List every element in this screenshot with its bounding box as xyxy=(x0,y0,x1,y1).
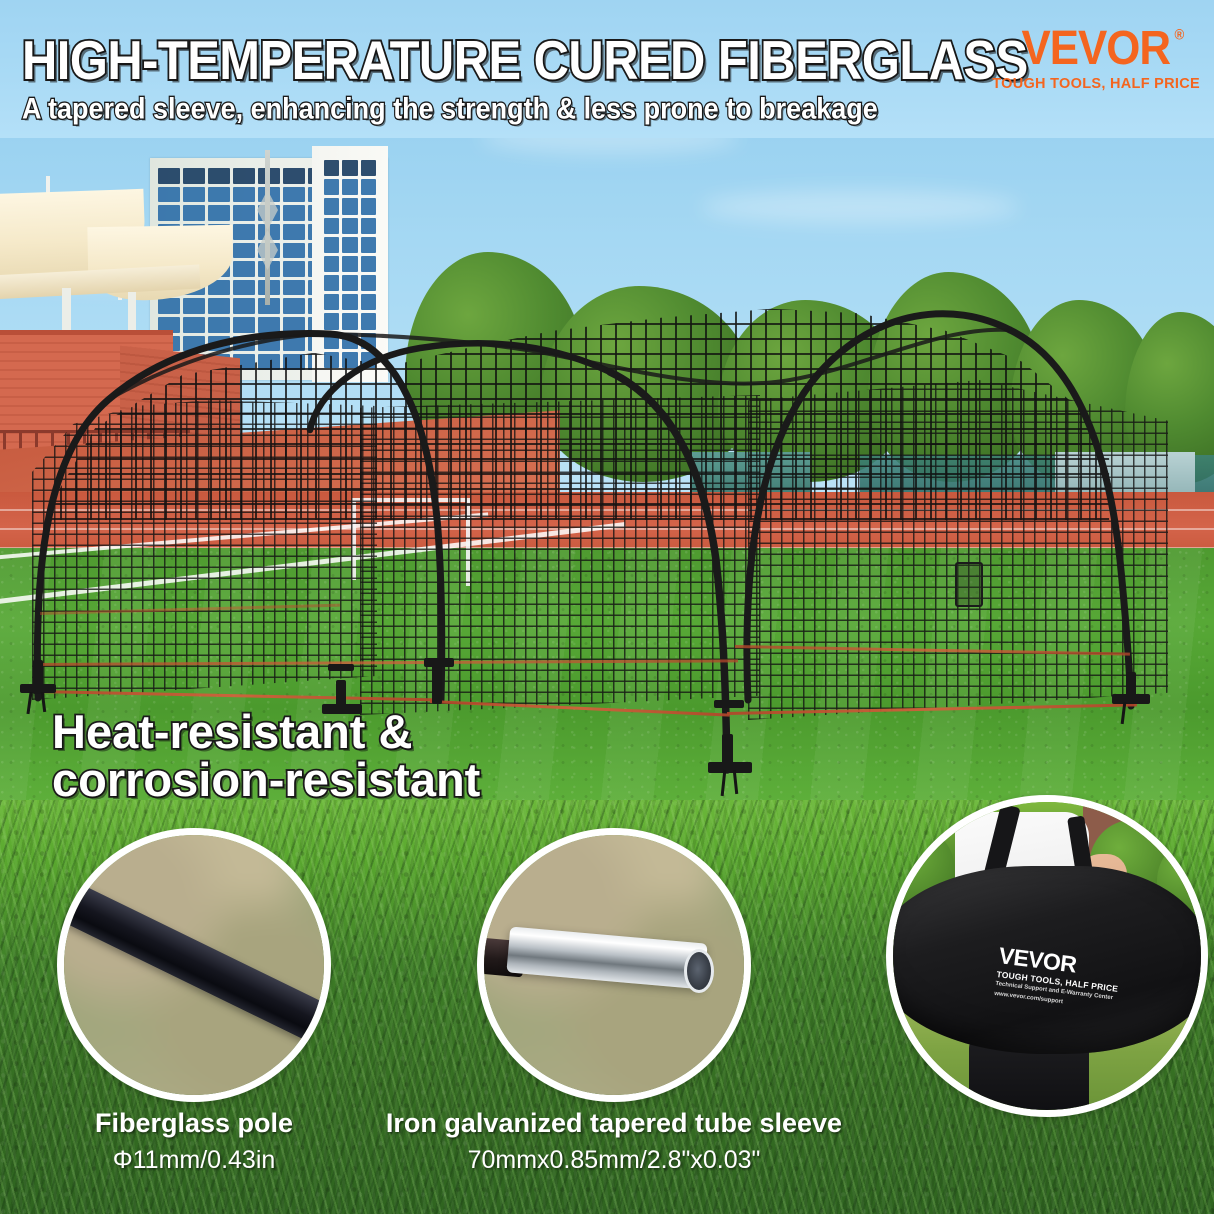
caption-galvanized-sleeve: Iron galvanized tapered tube sleeve 70mm… xyxy=(338,1108,890,1175)
ground-anchor-post xyxy=(33,660,43,694)
net-label-patch xyxy=(955,562,983,607)
arch-pole-rear-left xyxy=(747,314,1010,700)
inset-fiberglass-pole xyxy=(57,828,331,1102)
sleeve-open-end xyxy=(684,949,714,993)
header-banner: HIGH-TEMPERATURE CURED FIBERGLASS A tape… xyxy=(0,0,1214,138)
page-subtitle: A tapered sleeve, enhancing the strength… xyxy=(22,92,878,126)
page-title: HIGH-TEMPERATURE CURED FIBERGLASS xyxy=(22,28,1028,92)
ground-anchor-bracket xyxy=(714,700,744,708)
registered-trademark-icon: ® xyxy=(1175,28,1184,42)
inset-galvanized-sleeve xyxy=(477,828,751,1102)
caption-fiberglass-pole: Fiberglass pole Φ11mm/0.43in xyxy=(58,1108,330,1175)
inset-carry-bag: VEVOR TOUGH TOOLS, HALF PRICE Technical … xyxy=(886,795,1208,1117)
brand-wordmark-text: VEVOR xyxy=(1022,22,1170,76)
ground-anchor-post xyxy=(1126,672,1136,702)
product-marketing-poster: Heat-resistant & corrosion-resistant xyxy=(0,0,1214,1214)
caption-spec: Φ11mm/0.43in xyxy=(58,1146,330,1175)
ground-anchor-bracket xyxy=(328,664,354,671)
brand-tagline: TOUGH TOOLS, HALF PRICE xyxy=(992,76,1200,92)
arch-pole-front-left xyxy=(37,333,330,698)
ground-anchor-post xyxy=(722,734,733,770)
caption-title: Fiberglass pole xyxy=(58,1108,330,1139)
brand-wordmark: VEVOR ® xyxy=(1022,26,1170,72)
ground-anchor-post xyxy=(432,664,442,704)
promo-line-1: Heat-resistant & xyxy=(52,708,480,756)
promo-line-2: corrosion-resistant xyxy=(52,756,480,804)
vevor-brand-logo: VEVOR ® TOUGH TOOLS, HALF PRICE xyxy=(992,26,1200,92)
arch-pole-left-rear-leg xyxy=(330,334,442,700)
promo-overlay-text: Heat-resistant & corrosion-resistant xyxy=(52,708,480,805)
caption-title: Iron galvanized tapered tube sleeve xyxy=(338,1108,890,1139)
caption-spec: 70mmx0.85mm/2.8"x0.03" xyxy=(338,1146,890,1175)
arch-pole-rear-right xyxy=(1010,330,1131,706)
